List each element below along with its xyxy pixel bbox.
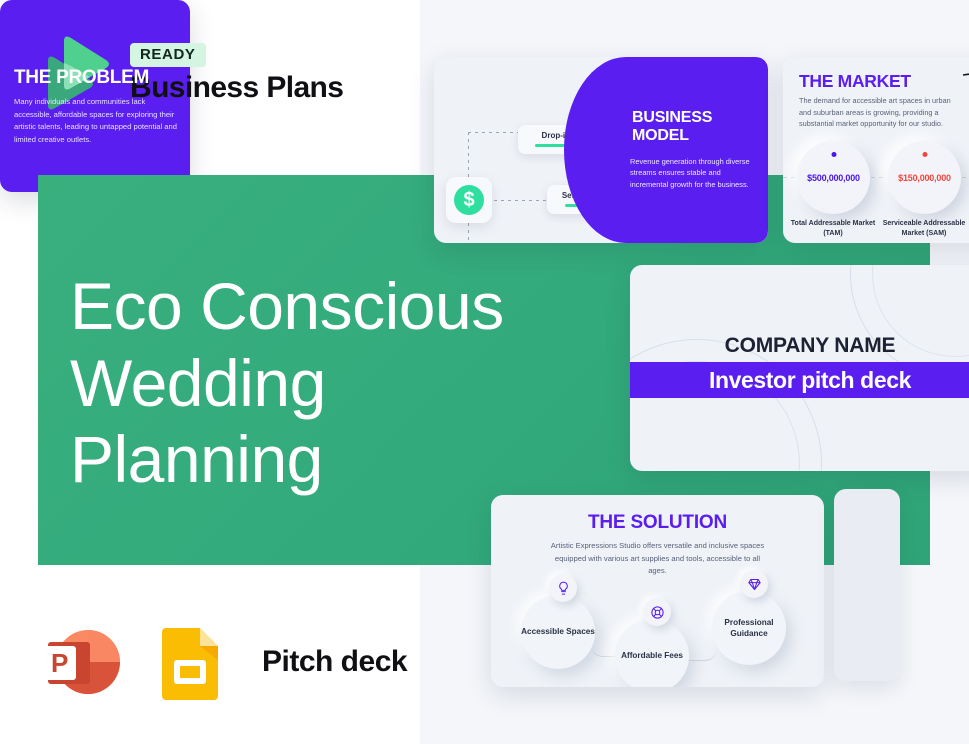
market-caption-tam: Total Addressable Market (TAM) [785,219,881,239]
slide-the-market[interactable]: THE MARKET The demand for accessible art… [783,57,969,243]
lightbulb-icon [549,574,577,602]
investor-pitch-deck-band: Investor pitch deck [630,362,969,398]
solution-label: Affordable Fees [621,650,683,661]
problem-title: THE PROBLEM [14,67,149,89]
market-amount: $150,000,000 [898,173,951,183]
svg-text:P: P [51,648,68,678]
dollar-sign-icon: $ [454,185,484,215]
investor-pitch-deck-text: Investor pitch deck [709,367,911,394]
market-title: THE MARKET [799,71,911,92]
slide-the-solution[interactable]: THE SOLUTION Artistic Expressions Studio… [491,495,824,687]
metric-dot-icon [922,152,927,157]
market-description: The demand for accessible art spaces in … [799,95,959,130]
market-divider-right [962,177,969,178]
market-caption-sam: Serviceable Addressable Market (SAM) [876,219,969,239]
curved-arrow-icon [961,71,969,117]
business-model-purple-shape [626,57,768,243]
slide-the-problem[interactable]: THE PROBLEM Many individuals and communi… [0,0,190,192]
connector-middle [494,200,548,201]
format-row: P Pitch deck [38,618,407,706]
page-title: Eco Conscious Wedding Planning [70,268,540,498]
metric-dot-icon [831,152,836,157]
market-amount: $500,000,000 [807,173,860,183]
slide-business-model[interactable]: $ Drop-in Fees Session Workshops Commiss… [434,57,768,243]
solution-label: Professional Guidance [712,617,786,640]
market-divider-mid [871,177,887,178]
solution-circle-accessible-spaces: Accessible Spaces [521,595,595,669]
business-model-title: BUSINESS MODEL [632,109,756,146]
dollar-icon-card: $ [446,177,492,223]
solution-circle-affordable-fees: Affordable Fees [615,619,689,687]
problem-description: Many individuals and communities lack ac… [14,96,179,146]
slide-behind-problem [834,489,900,681]
solution-description: Artistic Expressions Studio offers versa… [547,540,768,578]
slide-company-name[interactable]: COMPANY NAME Investor pitch deck [630,265,969,471]
solution-circle-professional-guidance: Professional Guidance [712,591,786,665]
company-name-heading: COMPANY NAME [630,334,969,358]
market-metric-circle-tam: $500,000,000 [797,141,870,214]
powerpoint-icon: P [38,618,126,706]
market-metric-circle-sam: $150,000,000 [888,141,961,214]
diamond-icon [740,570,768,598]
ready-badge: READY [130,43,206,67]
solution-title: THE SOLUTION [491,512,824,534]
solution-label: Accessible Spaces [521,626,595,637]
connector-top [468,132,518,133]
pitch-deck-label: Pitch deck [262,645,407,679]
business-model-description: Revenue generation through diverse strea… [630,156,758,190]
google-slides-icon [148,618,236,706]
lifebuoy-icon [643,598,671,626]
